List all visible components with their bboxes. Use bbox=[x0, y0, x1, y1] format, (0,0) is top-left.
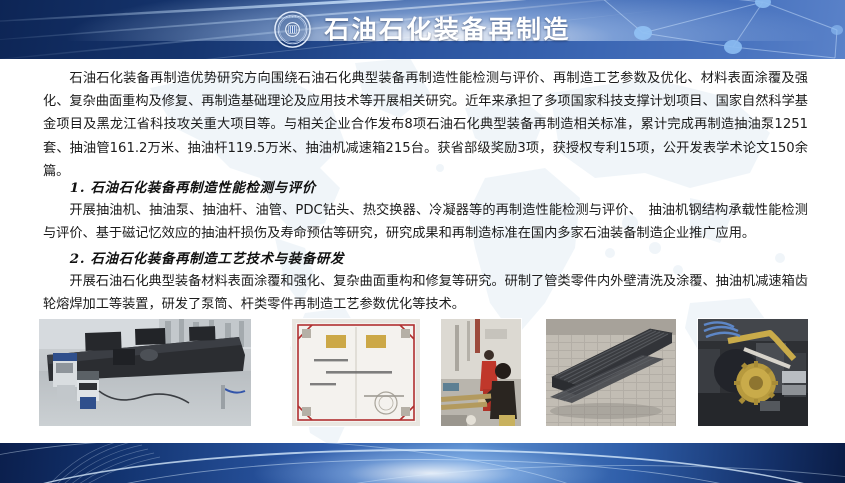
svg-text:★ ★ ★ ★ ★: ★ ★ ★ ★ ★ bbox=[286, 15, 300, 18]
svg-text:· · · · · · · ·: · · · · · · · · bbox=[287, 42, 299, 45]
header-banner: ★ ★ ★ ★ ★ · · · · · · · · 石油石化装备再制造 bbox=[0, 0, 845, 59]
section-1-heading: 1. 石油石化装备再制造性能检测与评价 bbox=[43, 178, 808, 198]
footer-decorative-banner bbox=[0, 443, 845, 483]
intro-paragraph: 石油石化装备再制造优势研究方向围绕石油石化典型装备再制造性能检测与评价、再制造工… bbox=[43, 67, 808, 183]
photo-gear-welding bbox=[698, 319, 808, 426]
fiber-streaks-graphic bbox=[40, 443, 260, 483]
page-title: 石油石化装备再制造 bbox=[324, 17, 571, 43]
photo-certificate bbox=[292, 319, 420, 426]
section-2-heading: 2. 石油石化装备再制造工艺技术与装备研发 bbox=[43, 249, 808, 269]
photo-test-bench bbox=[39, 319, 251, 426]
section-1-body: 开展抽油机、抽油泵、抽油杆、油管、PDC钻头、热交换器、冷凝器等的再制造性能检测… bbox=[43, 199, 808, 245]
photo-gallery bbox=[0, 318, 845, 436]
photo-workers-inspection bbox=[441, 319, 521, 426]
header-center-group: ★ ★ ★ ★ ★ · · · · · · · · 石油石化装备再制造 bbox=[0, 0, 845, 59]
university-seal-emblem: ★ ★ ★ ★ ★ · · · · · · · · bbox=[274, 11, 311, 48]
section-2-body: 开展石油石化典型装备材料表面涂覆和强化、复杂曲面重构和修复等研究。研制了管类零件… bbox=[43, 270, 808, 316]
photo-steel-rods-stack bbox=[546, 319, 676, 426]
slide-root: ★ ★ ★ ★ ★ · · · · · · · · 石油石化装备再制造 石油石化… bbox=[0, 0, 845, 483]
